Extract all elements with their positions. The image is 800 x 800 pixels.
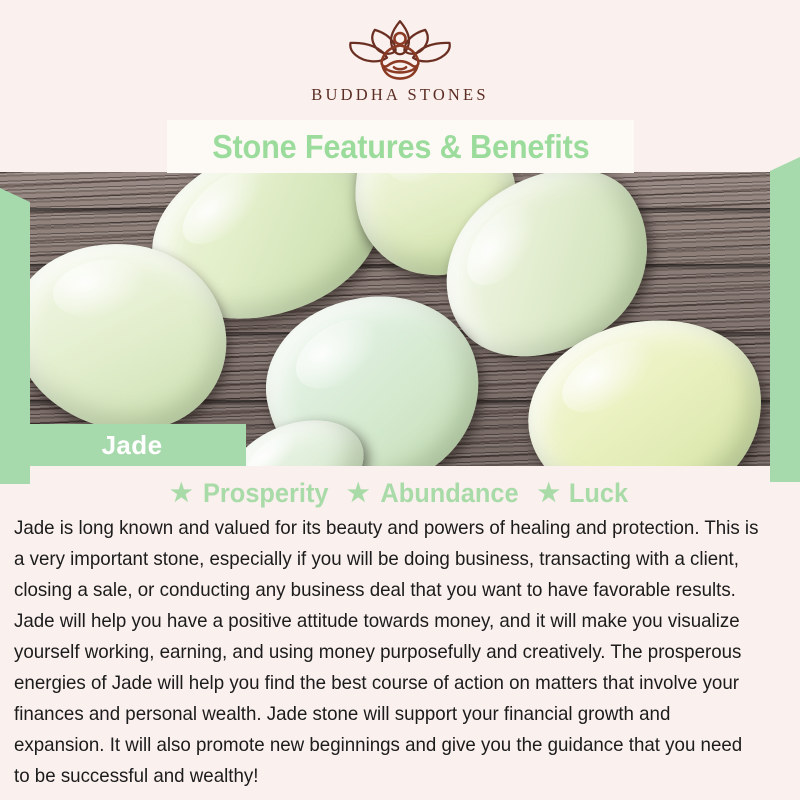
benefit-label: Luck [569,478,628,509]
content-section: ★ Prosperity ★ Abundance ★ Luck Jade is … [0,466,800,800]
page-title: Stone Features & Benefits [212,128,589,166]
star-icon: ★ [347,481,369,506]
stone-description: Jade is long known and valued for its be… [14,513,759,792]
star-icon: ★ [170,481,192,506]
stone-name-band: Jade [18,424,246,466]
benefit-label: Abundance [381,478,519,509]
benefit-label: Prosperity [203,478,329,509]
stone-info-card: BUDDHA STONES Stone Features & Benefits … [0,0,800,800]
benefit-luck: ★ Luck [537,478,629,509]
benefits-row: ★ Prosperity ★ Abundance ★ Luck [0,466,800,509]
benefit-abundance: ★ Abundance [347,478,523,509]
title-banner: Stone Features & Benefits [167,120,634,173]
lotus-meditation-icon [325,16,475,82]
right-accent-bar [770,157,800,482]
benefit-prosperity: ★ Prosperity [170,478,333,509]
star-icon: ★ [537,481,559,506]
brand-name: BUDDHA STONES [311,85,488,105]
brand-header: BUDDHA STONES [0,0,800,120]
jade-stones-photo [0,172,800,466]
stone-name: Jade [102,430,163,461]
